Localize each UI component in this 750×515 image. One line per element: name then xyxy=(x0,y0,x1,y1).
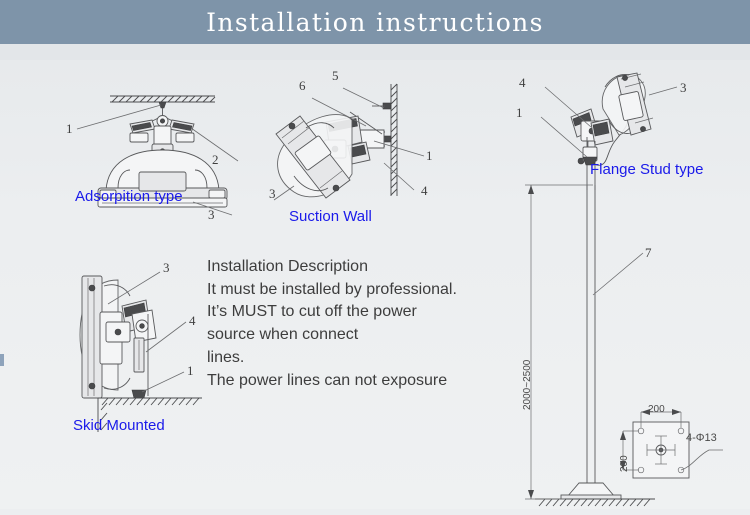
ceiling-hatching xyxy=(110,96,215,102)
tilted-luminaire xyxy=(276,115,352,198)
suction-wall-caption: Suction Wall xyxy=(289,208,372,225)
pole-shaft xyxy=(561,185,621,499)
skid-mounted-caption: Skid Mounted xyxy=(73,417,165,434)
adsorpition-callout-2: 2 xyxy=(212,152,219,168)
installation-description-block: Installation Description It must be inst… xyxy=(207,256,507,392)
pole-callout-leader xyxy=(593,253,643,295)
description-line-5: The power lines can not exposure xyxy=(207,370,507,393)
adsorpition-callout-1: 1 xyxy=(66,121,73,137)
diagram-canvas: 1 2 3 Adsorpition type xyxy=(0,60,750,509)
plate-width-dimension-text: 200 xyxy=(648,404,665,415)
skid-callout-4: 4 xyxy=(189,313,196,329)
description-line-2: It’s MUST to cut off the power xyxy=(207,301,507,324)
page-title: Installation instructions xyxy=(206,8,544,37)
left-edge-artifact xyxy=(0,354,4,366)
skid-callout-3: 3 xyxy=(163,260,170,276)
suction-wall-callout-3: 3 xyxy=(269,186,276,202)
skid-callout-1: 1 xyxy=(187,363,194,379)
description-line-1: It must be installed by professional. xyxy=(207,279,507,302)
plate-depth-dimension-text: 200 xyxy=(619,455,630,472)
adsorpition-type-figure xyxy=(60,80,290,230)
description-line-3: source when connect xyxy=(207,324,507,347)
adsorpition-callout-3: 3 xyxy=(208,207,215,223)
pole-callout-7: 7 xyxy=(645,245,652,261)
header-under-band xyxy=(0,44,750,60)
wall-hatching xyxy=(391,84,397,196)
adsorpition-type-caption: Adsorpition type xyxy=(75,188,183,205)
suction-wall-callout-4: 4 xyxy=(421,183,428,199)
installation-instructions-page: Installation instructions xyxy=(0,0,750,509)
base-plate-detail-figure xyxy=(613,400,743,510)
suction-wall-callout-6: 6 xyxy=(299,78,306,94)
description-heading: Installation Description xyxy=(207,256,507,279)
description-line-4: lines. xyxy=(207,347,507,370)
page-header: Installation instructions xyxy=(0,0,750,44)
hole-spec-text: 4-Φ13 xyxy=(686,432,717,444)
suction-wall-callout-5: 5 xyxy=(332,68,339,84)
pole-height-dimension-text: 2000~2500 xyxy=(522,360,533,410)
suction-wall-callout-1: 1 xyxy=(426,148,433,164)
pole-height-dimension xyxy=(525,185,593,499)
